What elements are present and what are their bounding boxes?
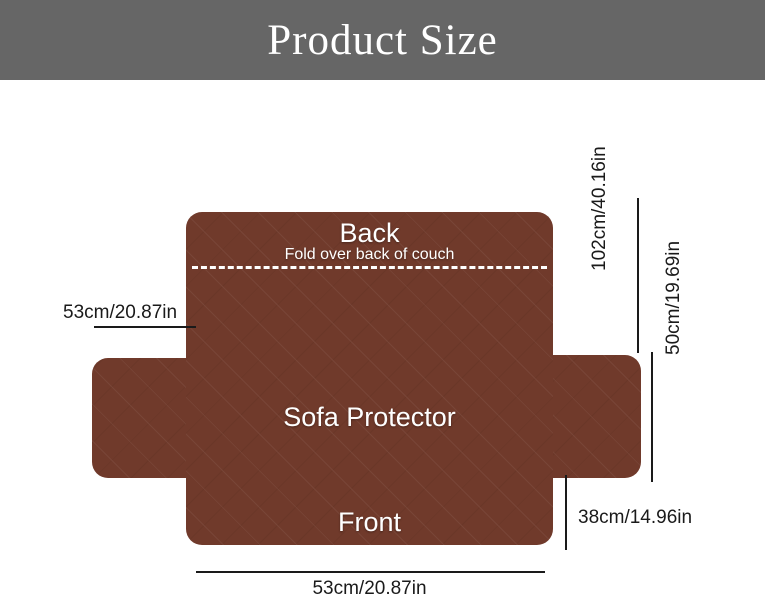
dimension-right-upper-line	[637, 198, 639, 353]
dimension-right-lower: 50cm/19.69in	[663, 241, 685, 355]
header-banner: Product Size	[0, 0, 765, 80]
page-title: Product Size	[267, 19, 498, 62]
dimension-right-lower-line	[651, 352, 653, 482]
dimension-top-left: 53cm/20.87in	[63, 302, 177, 324]
label-sofa-protector: Sofa Protector	[186, 402, 553, 433]
dimension-bottom-center: 53cm/20.87in	[186, 578, 553, 600]
dimension-bottom-right-line	[565, 475, 567, 550]
dimension-bottom-right: 38cm/14.96in	[578, 507, 692, 529]
dimension-bottom-center-line	[196, 571, 545, 573]
dimension-right-upper: 102cm/40.16in	[589, 146, 611, 271]
label-back-subtitle: Fold over back of couch	[186, 246, 553, 264]
label-back: Back	[186, 218, 553, 249]
label-front: Front	[186, 507, 553, 538]
fold-dashed-line	[192, 266, 547, 269]
dimension-top-left-line	[94, 326, 196, 328]
product-size-diagram: Back Fold over back of couch Sofa Protec…	[0, 80, 765, 606]
